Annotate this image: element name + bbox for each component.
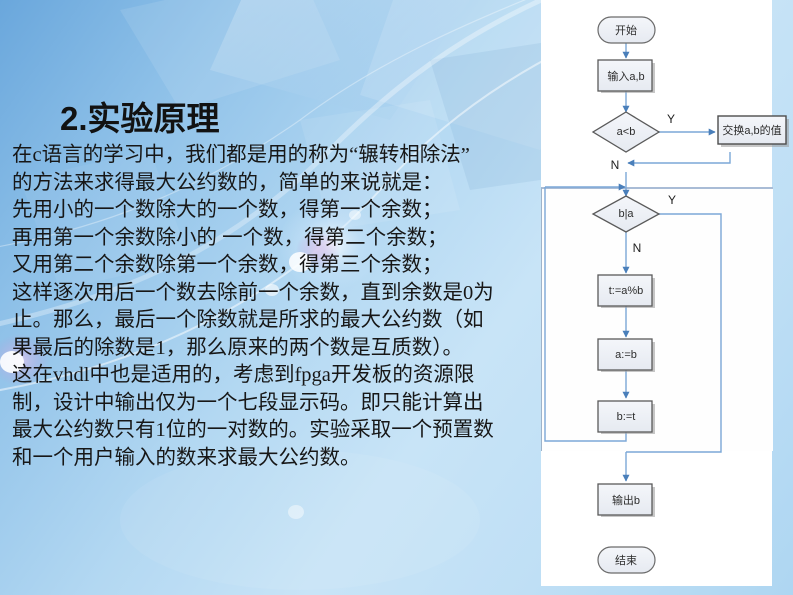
flow-node-mod: t:=a%b [609,285,644,297]
flow-edge-label-compare-no: N [611,158,620,172]
flow-node-start: 开始 [615,22,637,38]
flow-edge-label-compare-yes: Y [667,112,675,126]
body-line: 和一个用户输入的数来求最大公约数。 [12,445,532,473]
flow-node-end: 结束 [615,552,637,568]
slide-title-text: 实验原理 [88,102,220,138]
flow-node-output: 输出b [612,492,640,508]
presentation-slide: 2.实验原理 在c语言的学习中，我们都是用的称为“辗转相除法” 的方法来求得最大… [0,0,793,595]
flow-node-compare: a<b [617,126,636,138]
body-line: 这在vhdl中也是适用的，考虑到fpga开发板的资源限 [12,362,532,390]
body-line: 再用第一个余数除小的 一个数，得第二个余数； [12,225,532,253]
flow-node-input: 输入a,b [607,68,644,84]
body-line: 这样逐次用后一个数去除前一个余数，直到余数是0为 [12,280,532,308]
flow-node-assign-b: b:=t [617,411,636,423]
flow-edge-label-divides-yes: Y [668,193,676,207]
body-line: 最大公约数只有1位的一对数的。实验采取一个预置数 [12,417,532,445]
body-line: 先用小的一个数除大的一个数，得第一个余数； [12,197,532,225]
flowchart-labels: 开始 输入a,b a<b 交换a,b的值 b|a t:=a%b a:=b b:=… [541,0,793,595]
flow-node-divides: b|a [618,208,633,220]
body-line: 又用第二个余数除第一个余数，得第三个余数； [12,252,532,280]
body-line: 制，设计中输出仅为一个七段显示码。即只能计算出 [12,390,532,418]
body-line: 果最后的除数是1，那么原来的两个数是互质数）。 [12,335,532,363]
slide-body-text: 在c语言的学习中，我们都是用的称为“辗转相除法” 的方法来求得最大公约数的，简单… [12,142,532,472]
body-line: 止。那么，最后一个除数就是所求的最大公约数（如 [12,307,532,335]
flow-edge-label-divides-no: N [633,241,642,255]
slide-title-number: 2. [60,100,88,137]
body-line: 在c语言的学习中，我们都是用的称为“辗转相除法” [12,142,532,170]
slide-title: 2.实验原理 [60,92,220,140]
flow-node-swap: 交换a,b的值 [722,122,781,138]
body-line: 的方法来求得最大公约数的，简单的来说就是： [12,170,532,198]
flow-node-assign-a: a:=b [615,349,637,361]
